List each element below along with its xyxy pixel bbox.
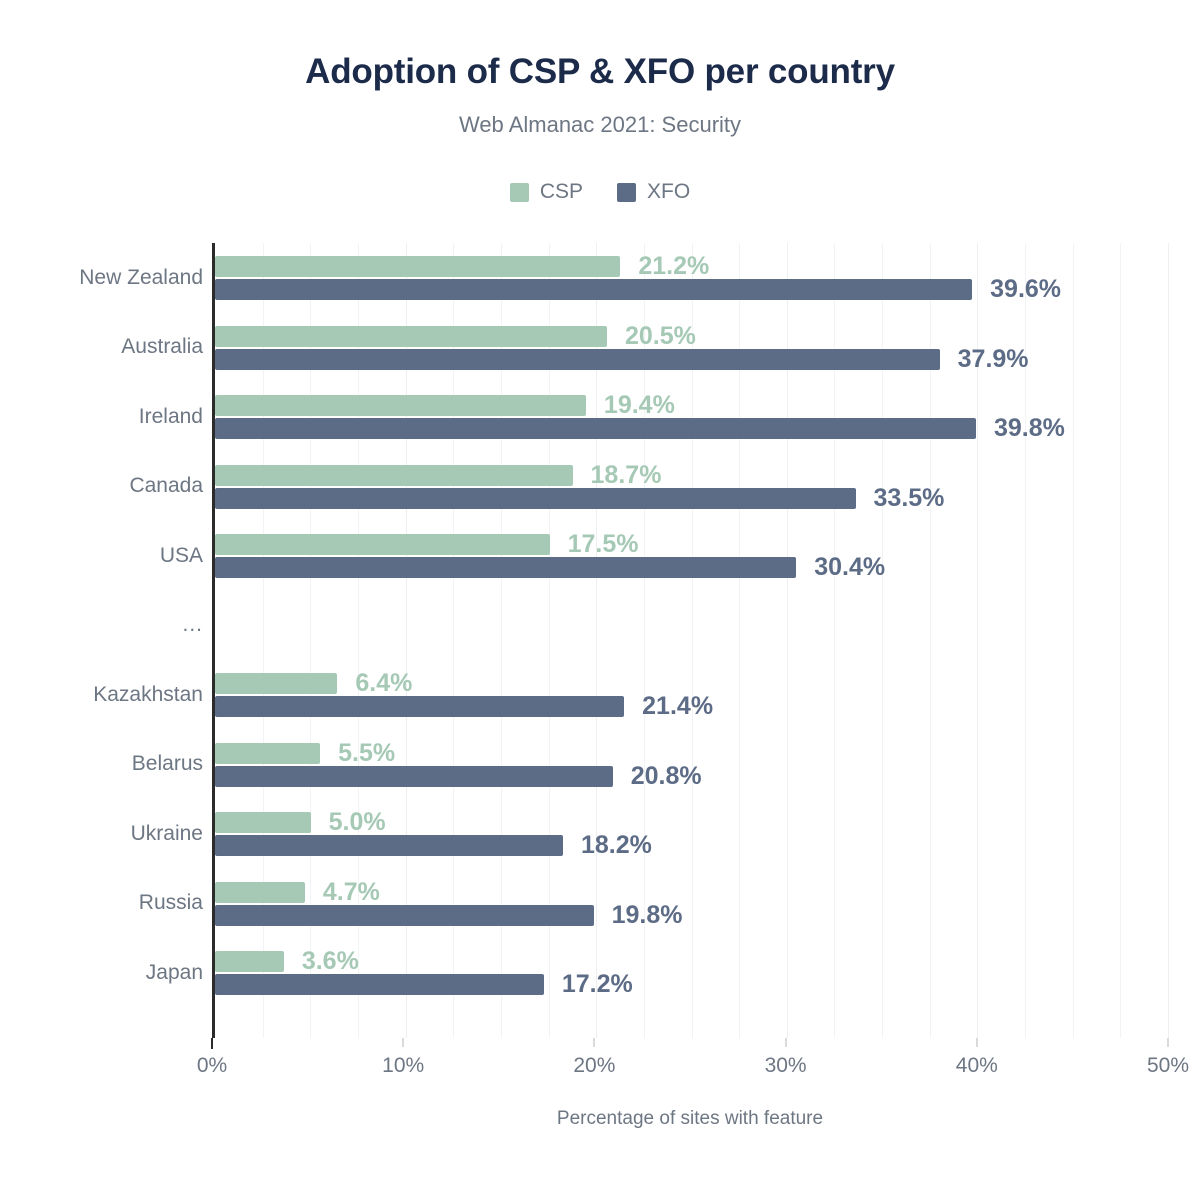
bar-line-xfo: 18.2% xyxy=(215,835,652,856)
bar-csp[interactable] xyxy=(215,743,320,764)
bar-line-csp: 17.5% xyxy=(215,534,638,555)
bar-xfo[interactable] xyxy=(215,279,972,300)
bar-value-label: 3.6% xyxy=(302,949,359,974)
bar-line-csp: 3.6% xyxy=(215,951,359,972)
bar-group-row: Kazakhstan6.4%21.4% xyxy=(215,660,1168,730)
x-axis-tick-label: 30% xyxy=(765,1054,807,1078)
bar-line-csp: 19.4% xyxy=(215,395,675,416)
legend-label: XFO xyxy=(647,180,690,204)
bar-csp[interactable] xyxy=(215,951,284,972)
bar-line-csp: 18.7% xyxy=(215,465,661,486)
x-axis-tick-label: 50% xyxy=(1147,1054,1189,1078)
category-label: Ukraine xyxy=(131,822,203,846)
chart-legend: CSPXFO xyxy=(0,180,1200,204)
category-label: Australia xyxy=(121,335,203,359)
bar-csp[interactable] xyxy=(215,812,311,833)
bar-value-label: 19.8% xyxy=(612,903,683,928)
x-axis-tick xyxy=(976,1038,978,1047)
bar-line-xfo: 20.8% xyxy=(215,766,702,787)
category-label: Kazakhstan xyxy=(93,683,203,707)
x-axis-tick xyxy=(1167,1038,1169,1047)
bar-line-csp: 21.2% xyxy=(215,256,709,277)
chart-container: Adoption of CSP & XFO per country Web Al… xyxy=(0,0,1200,1196)
bar-value-label: 6.4% xyxy=(355,671,412,696)
bar-group-row: USA17.5%30.4% xyxy=(215,521,1168,591)
bar-group-row: Japan3.6%17.2% xyxy=(215,938,1168,1008)
bar-csp[interactable] xyxy=(215,534,550,555)
legend-item-xfo[interactable]: XFO xyxy=(617,180,690,204)
bar-group-row: Russia4.7%19.8% xyxy=(215,869,1168,939)
bar-value-label: 20.8% xyxy=(631,764,702,789)
bar-csp[interactable] xyxy=(215,395,586,416)
bar-value-label: 37.9% xyxy=(958,347,1029,372)
bar-csp[interactable] xyxy=(215,326,607,347)
x-axis-tick xyxy=(211,1038,213,1049)
bar-group-row: Ireland19.4%39.8% xyxy=(215,382,1168,452)
bar-value-label: 21.4% xyxy=(642,694,713,719)
bar-group-row: New Zealand21.2%39.6% xyxy=(215,243,1168,313)
legend-item-csp[interactable]: CSP xyxy=(510,180,583,204)
x-axis-title: Percentage of sites with feature xyxy=(212,1108,1168,1130)
chart-subtitle: Web Almanac 2021: Security xyxy=(0,112,1200,138)
plot-area: New Zealand21.2%39.6%Australia20.5%37.9%… xyxy=(212,243,1168,1038)
bar-value-label: 33.5% xyxy=(874,486,945,511)
bar-line-xfo: 37.9% xyxy=(215,349,1029,370)
bar-line-xfo: 39.6% xyxy=(215,279,1061,300)
bar-csp[interactable] xyxy=(215,882,305,903)
bar-xfo[interactable] xyxy=(215,905,594,926)
bar-xfo[interactable] xyxy=(215,557,796,578)
bar-value-label: 19.4% xyxy=(604,393,675,418)
category-label: New Zealand xyxy=(79,266,203,290)
bar-line-xfo: 39.8% xyxy=(215,418,1065,439)
bar-value-label: 39.8% xyxy=(994,416,1065,441)
bar-value-label: 39.6% xyxy=(990,277,1061,302)
bar-line-xfo: 21.4% xyxy=(215,696,713,717)
legend-swatch-icon xyxy=(510,183,529,202)
bar-line-xfo: 30.4% xyxy=(215,557,885,578)
legend-label: CSP xyxy=(540,180,583,204)
bar-xfo[interactable] xyxy=(215,696,624,717)
x-axis-tick xyxy=(593,1038,595,1047)
bar-csp[interactable] xyxy=(215,465,573,486)
x-axis: 0%10%20%30%40%50% xyxy=(212,1038,1168,1078)
bar-line-csp: 5.5% xyxy=(215,743,395,764)
bar-line-csp: 4.7% xyxy=(215,882,380,903)
category-label: Japan xyxy=(146,961,203,985)
bar-group-row: Australia20.5%37.9% xyxy=(215,313,1168,383)
bar-csp[interactable] xyxy=(215,673,337,694)
category-label: Belarus xyxy=(132,752,203,776)
x-axis-tick-label: 0% xyxy=(197,1054,227,1078)
bar-group-row: Canada18.7%33.5% xyxy=(215,452,1168,522)
bar-line-xfo: 19.8% xyxy=(215,905,682,926)
bar-xfo[interactable] xyxy=(215,349,940,370)
chart-title: Adoption of CSP & XFO per country xyxy=(0,52,1200,92)
bar-group-row: Belarus5.5%20.8% xyxy=(215,730,1168,800)
bar-line-xfo: 33.5% xyxy=(215,488,944,509)
gridline xyxy=(1168,243,1169,1038)
x-axis-tick-label: 10% xyxy=(382,1054,424,1078)
bar-xfo[interactable] xyxy=(215,835,563,856)
category-label: USA xyxy=(160,544,203,568)
bar-value-label: 30.4% xyxy=(814,555,885,580)
bar-group-row: Ukraine5.0%18.2% xyxy=(215,799,1168,869)
bar-rows: New Zealand21.2%39.6%Australia20.5%37.9%… xyxy=(215,243,1168,1038)
bar-value-label: 5.0% xyxy=(329,810,386,835)
bar-value-label: 21.2% xyxy=(638,254,709,279)
bar-line-csp: 20.5% xyxy=(215,326,696,347)
bar-value-label: 18.7% xyxy=(591,463,662,488)
bar-csp[interactable] xyxy=(215,256,620,277)
x-axis-tick xyxy=(402,1038,404,1047)
legend-swatch-icon xyxy=(617,183,636,202)
bar-value-label: 20.5% xyxy=(625,324,696,349)
bar-line-csp: 5.0% xyxy=(215,812,386,833)
bar-group-row: ... xyxy=(215,591,1168,661)
bar-value-label: 5.5% xyxy=(338,741,395,766)
category-label: Russia xyxy=(139,891,203,915)
bar-xfo[interactable] xyxy=(215,418,976,439)
category-label: Ireland xyxy=(139,405,203,429)
bar-value-label: 17.5% xyxy=(568,532,639,557)
bar-line-xfo: 17.2% xyxy=(215,974,633,995)
bar-xfo[interactable] xyxy=(215,766,613,787)
bar-xfo[interactable] xyxy=(215,974,544,995)
bar-xfo[interactable] xyxy=(215,488,856,509)
bar-value-label: 17.2% xyxy=(562,972,633,997)
bar-value-label: 4.7% xyxy=(323,880,380,905)
category-label: Canada xyxy=(129,474,203,498)
bar-value-label: 18.2% xyxy=(581,833,652,858)
category-label: ... xyxy=(182,613,203,637)
x-axis-tick xyxy=(785,1038,787,1047)
x-axis-tick-label: 40% xyxy=(956,1054,998,1078)
x-axis-tick-label: 20% xyxy=(573,1054,615,1078)
bar-line-csp: 6.4% xyxy=(215,673,412,694)
